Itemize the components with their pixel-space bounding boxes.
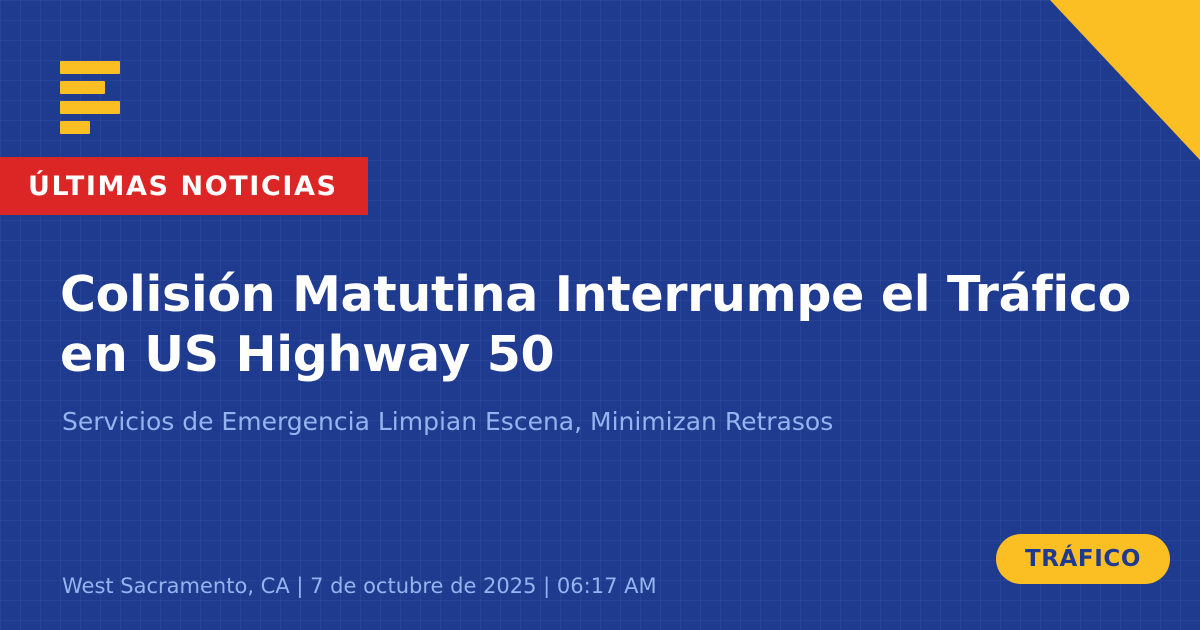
- breaking-news-badge-label: ÚLTIMAS NOTICIAS: [28, 173, 338, 200]
- logo-bar-4: [60, 121, 90, 134]
- logo-bar-1: [60, 61, 120, 74]
- logo-bar-2: [60, 81, 105, 94]
- category-badge-label: TRÁFICO: [1025, 548, 1141, 571]
- corner-triangle-decoration: [1050, 0, 1200, 160]
- logo-bar-3: [60, 101, 120, 114]
- page-title: Colisión Matutina Interrumpe el Tráfico …: [60, 265, 1150, 385]
- brand-logo[interactable]: [60, 61, 120, 134]
- breaking-news-badge: ÚLTIMAS NOTICIAS: [0, 157, 368, 215]
- meta-line: West Sacramento, CA | 7 de octubre de 20…: [62, 574, 657, 599]
- subtitle: Servicios de Emergencia Limpian Escena, …: [62, 406, 1062, 439]
- breaking-news-card: ÚLTIMAS NOTICIAS Colisión Matutina Inter…: [0, 0, 1200, 630]
- category-badge[interactable]: TRÁFICO: [996, 534, 1170, 584]
